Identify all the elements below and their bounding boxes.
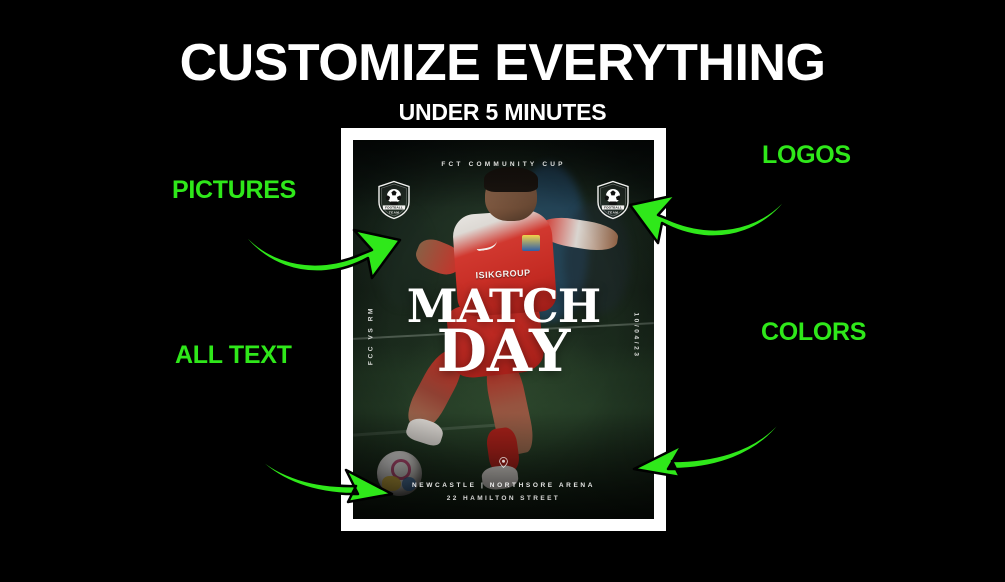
callout-label-logos: LOGOS xyxy=(762,141,851,170)
svg-text:TEAM: TEAM xyxy=(608,210,618,214)
header-block: CUSTOMIZE EVERYTHING UNDER 5 MINUTES xyxy=(0,36,1005,126)
page-subtitle: UNDER 5 MINUTES xyxy=(0,99,1005,126)
page-title: CUSTOMIZE EVERYTHING xyxy=(0,36,1005,91)
callout-label-pictures: PICTURES xyxy=(172,176,296,205)
curved-arrow-right-icon xyxy=(222,196,412,286)
curved-arrow-down-right-icon xyxy=(222,366,412,506)
poster-kicker-text: FCT COMMUNITY CUP xyxy=(353,161,654,168)
football-shield-crest-icon: FOOTBALL TEAM xyxy=(596,180,630,220)
poster-side-text-left: FCC VS RM xyxy=(368,296,375,376)
callout-label-colors: COLORS xyxy=(761,318,866,347)
curved-arrow-left-icon xyxy=(628,163,808,253)
callout-label-all-text: ALL TEXT xyxy=(175,341,292,370)
svg-text:FOOTBALL: FOOTBALL xyxy=(604,206,622,210)
curved-arrow-down-left-icon xyxy=(628,345,808,480)
